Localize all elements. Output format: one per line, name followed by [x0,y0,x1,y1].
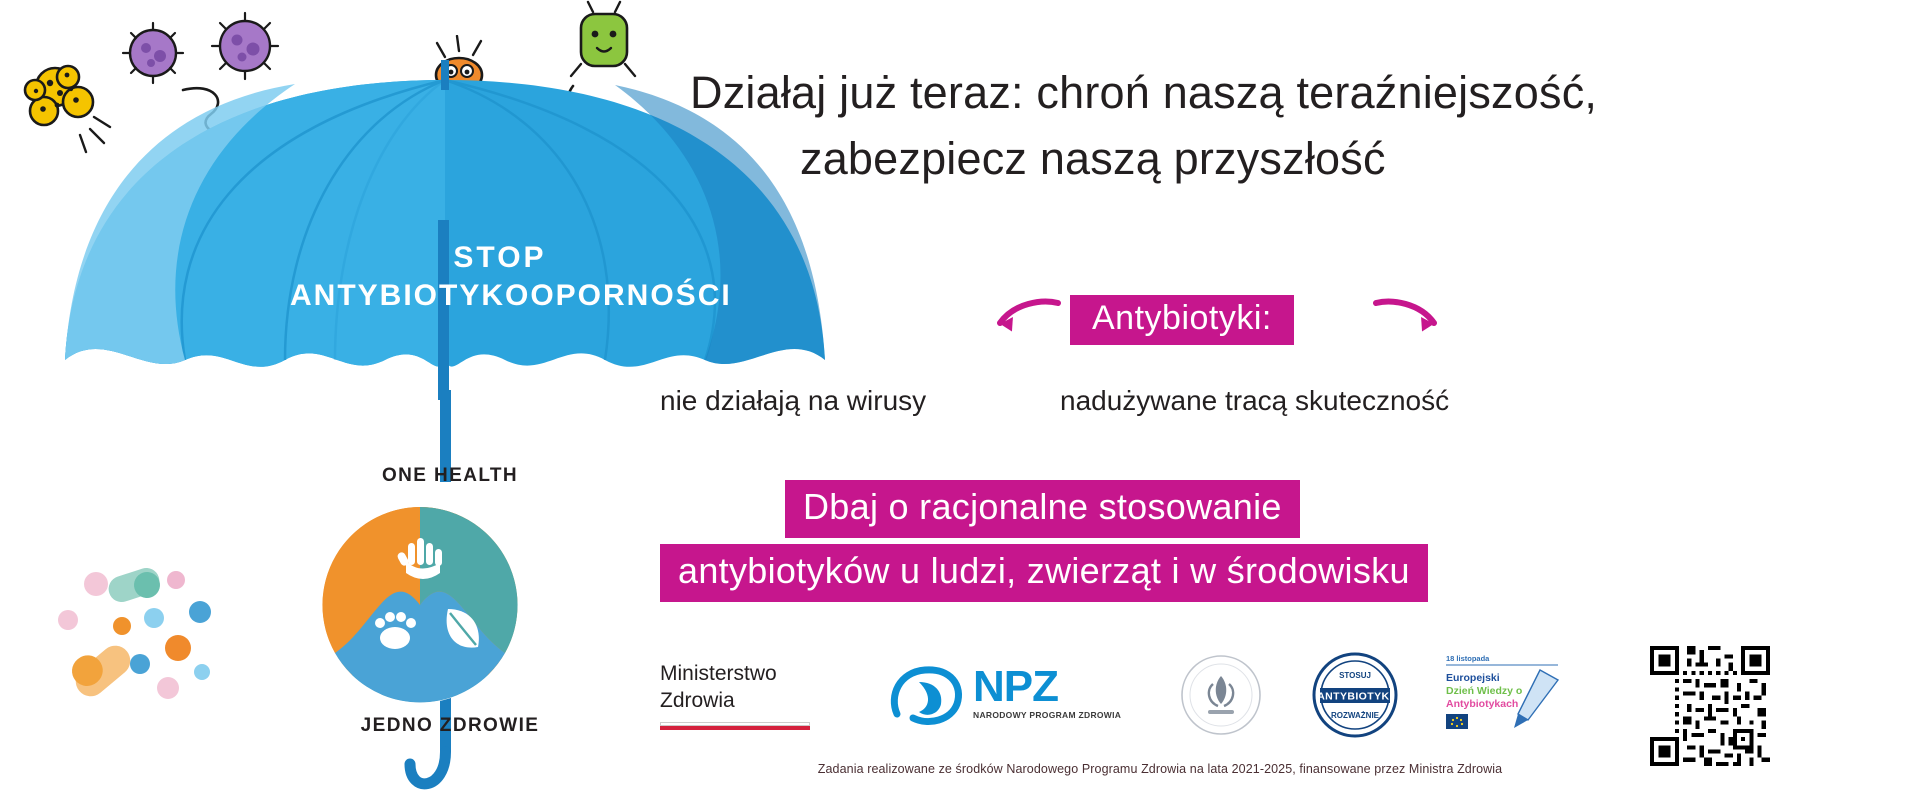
call-to-action-banner: Dbaj o racjonalne stosowanie antybiotykó… [660,480,1920,602]
npz-logo: NPZ NARODOWY PROGRAM ZDROWIA [885,662,1150,732]
headline: Działaj już teraz: chroń naszą teraźniej… [690,60,1920,192]
antibiotics-stamp-logo: ANTYBIOTYKI STOSUJ ROZWAŻNIE [1310,652,1400,738]
antibiotics-facts-row: nie działają na wirusy nadużywane tracą … [660,385,1920,425]
npz-acronym: NPZ [973,664,1121,710]
headline-line2: zabezpiecz naszą przyszłość [690,126,1920,192]
headline-line1: Działaj już teraz: chroń naszą teraźniej… [690,67,1597,118]
ministry-of-health-logo: Ministerstwo Zdrowia [660,660,835,731]
ministry-label-line2: Zdrowia [660,687,835,714]
eaad-logo: 18 listopada Europejski Dzień Wiedzy o A… [1440,648,1575,740]
one-health-emblem [320,505,520,705]
antibiotics-chip-label: Antybiotyki: [1070,295,1294,345]
footer-logos: Ministerstwo Zdrowia NPZ NARODOWY PROGRA… [660,640,1920,790]
svg-text:Antybiotykach: Antybiotykach [1446,698,1518,710]
polish-flag-bar [660,722,810,731]
antibiotics-fact-left: nie działają na wirusy [660,385,926,417]
svg-text:ANTYBIOTYKI: ANTYBIOTYKI [1317,691,1393,703]
poster-root: STOP ANTYBIOTYKOOPORNOŚCI ONE HEALTH [0,0,1920,810]
ministry-label-line1: Ministerstwo [660,660,835,687]
svg-text:Europejski: Europejski [1446,672,1500,684]
svg-text:Dzień Wiedzy o: Dzień Wiedzy o [1446,685,1522,697]
npz-fullname: NARODOWY PROGRAM ZDROWIA [973,710,1121,720]
pills-illustration [50,560,270,740]
arrow-right-icon [1370,297,1444,341]
one-health-label: ONE HEALTH [320,465,580,487]
banner-line1: Dbaj o racjonalne stosowanie [785,480,1300,538]
partner-circular-logo-1 [1180,654,1262,736]
footnote-text: Zadania realizowane ze środków Narodoweg… [660,762,1660,776]
banner-line2: antybiotyków u ludzi, zwierząt i w środo… [660,544,1428,602]
antibiotics-chip-row: Antybiotyki: [830,295,1610,343]
jedno-zdrowie-label: JEDNO ZDROWIE [300,715,600,737]
antibiotics-fact-right: nadużywane tracą skuteczność [1060,385,1449,417]
svg-text:STOSUJ: STOSUJ [1339,671,1371,680]
qr-code-icon[interactable] [1650,646,1770,766]
arrow-left-icon [990,297,1064,341]
svg-text:18 listopada: 18 listopada [1446,654,1490,663]
right-content-panel: Działaj już teraz: chroń naszą teraźniej… [660,0,1920,810]
npz-mark-icon [885,662,969,730]
svg-text:ROZWAŻNIE: ROZWAŻNIE [1331,711,1380,720]
npz-text: NPZ NARODOWY PROGRAM ZDROWIA [973,664,1121,720]
